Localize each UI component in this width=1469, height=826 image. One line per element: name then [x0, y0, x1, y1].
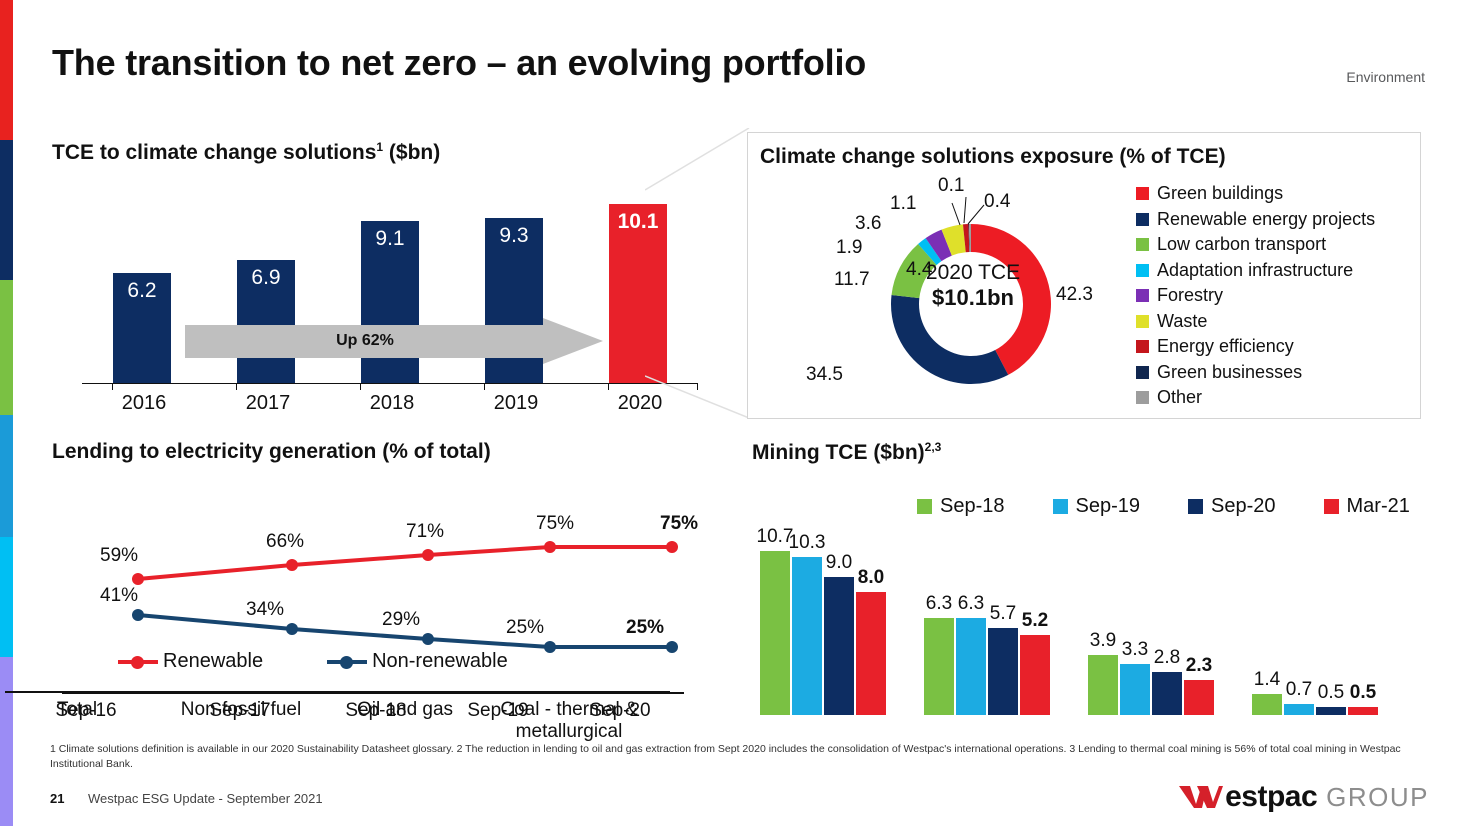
- mining-group-2: 3.93.32.82.3: [1088, 525, 1228, 715]
- tce-bar-value: 6.9: [237, 266, 295, 290]
- legend-swatch: [1136, 315, 1149, 328]
- lending-legend: RenewableNon-renewable: [118, 650, 508, 673]
- legend-label: Energy efficiency: [1157, 336, 1294, 357]
- donut-legend-item[interactable]: Energy efficiency: [1136, 334, 1375, 360]
- slide: The transition to net zero – an evolving…: [0, 0, 1469, 826]
- mining-bar-Mar-21: 5.2: [1020, 635, 1050, 715]
- stripe-band-5: [0, 657, 13, 826]
- arrow-label: Up 62%: [185, 332, 545, 350]
- legend-label: Sep-19: [1076, 495, 1141, 518]
- mining-bar-Sep-18: 3.9: [1088, 655, 1118, 715]
- line-point-label: 25%: [506, 617, 544, 639]
- donut-value-adaptation: 1.9: [836, 237, 862, 259]
- westpac-w-icon: [1179, 782, 1223, 812]
- line-point-label: 34%: [246, 599, 284, 621]
- donut-wrapper: 2020 TCE $10.1bn 42.3 34.5 11.7 1.9 3.6 …: [808, 179, 1138, 409]
- donut-legend-item[interactable]: Other: [1136, 385, 1375, 411]
- tce-cat-2017: 2017: [223, 392, 313, 415]
- westpac-group-logo: estpac GROUP: [1179, 780, 1429, 814]
- line-point-label: 75%: [536, 513, 574, 535]
- line-point-label: 29%: [382, 609, 420, 631]
- mining-bar-Sep-19: 0.7: [1284, 704, 1314, 715]
- mining-bar-Sep-19: 6.3: [956, 618, 986, 715]
- line-series-Renewable: [138, 547, 672, 579]
- mining-bar-Mar-21: 8.0: [856, 592, 886, 715]
- arrow-head: [543, 318, 603, 364]
- legend-label: Green buildings: [1157, 183, 1283, 204]
- legend-label: Adaptation infrastructure: [1157, 260, 1353, 281]
- chart-title-mining: Mining TCE ($bn)2,3: [752, 440, 941, 465]
- legend-label: Mar-21: [1347, 495, 1410, 518]
- mining-bar-value: 8.0: [844, 567, 898, 589]
- mining-cat-3: Coal - thermal & metallurgical: [474, 699, 664, 743]
- chart-title-exposure: Climate change solutions exposure (% of …: [760, 145, 1226, 169]
- chart-title-tce: TCE to climate change solutions1 ($bn): [52, 140, 440, 165]
- mining-cat-2: Oil and gas: [310, 699, 500, 721]
- donut-legend-item[interactable]: Forestry: [1136, 283, 1375, 309]
- legend-line: [118, 660, 158, 664]
- chart-mining-tce: Mining TCE ($bn)2,3 Sep-18Sep-19Sep-20Ma…: [747, 440, 1437, 740]
- mining-bar-value: 0.5: [1336, 682, 1390, 704]
- footnotes: 1 Climate solutions definition is availa…: [50, 742, 1425, 772]
- mining-bars: 10.710.39.08.06.36.35.75.23.93.32.82.31.…: [752, 525, 1422, 715]
- line-point[interactable]: [544, 641, 556, 653]
- mining-bar-Sep-20: 0.5: [1316, 707, 1346, 715]
- legend-label: Low carbon transport: [1157, 234, 1326, 255]
- donut-legend-item[interactable]: Low carbon transport: [1136, 232, 1375, 258]
- line-point-label: 59%: [100, 545, 138, 567]
- donut-center-line1: 2020 TCE: [926, 261, 1020, 284]
- legend-line: [327, 660, 367, 664]
- tce-bar-value: 9.3: [485, 224, 543, 248]
- mining-bar-value: 10.3: [780, 532, 834, 554]
- line-point-label: 71%: [406, 521, 444, 543]
- legend-label: Green businesses: [1157, 362, 1302, 383]
- tce-bar-2020: 10.1: [609, 204, 667, 383]
- line-point-label: 75%: [660, 513, 698, 535]
- mining-axis-line: [5, 691, 670, 693]
- tce-bar-value: 6.2: [113, 279, 171, 303]
- mining-legend-item[interactable]: Sep-18: [917, 495, 1005, 518]
- legend-swatch: [1136, 264, 1149, 277]
- donut-legend-item[interactable]: Waste: [1136, 309, 1375, 335]
- mining-bar-value: 2.3: [1172, 655, 1226, 677]
- mining-legend-item[interactable]: Sep-19: [1053, 495, 1141, 518]
- legend-swatch: [1136, 289, 1149, 302]
- mining-bar-Sep-19: 10.3: [792, 557, 822, 715]
- tce-cat-2019: 2019: [471, 392, 561, 415]
- legend-label: Forestry: [1157, 285, 1223, 306]
- legend-swatch: [1188, 499, 1203, 514]
- tce-bar-value: 10.1: [609, 210, 667, 234]
- mining-group-0: 10.710.39.08.0: [760, 525, 900, 715]
- legend-swatch: [1136, 238, 1149, 251]
- line-point[interactable]: [422, 633, 434, 645]
- legend-label: Waste: [1157, 311, 1207, 332]
- donut-legend-item[interactable]: Green businesses: [1136, 360, 1375, 386]
- lending-legend-item[interactable]: Non-renewable: [327, 650, 508, 673]
- donut-value-energy-efficiency: 1.1: [890, 193, 916, 215]
- mining-legend-item[interactable]: Mar-21: [1324, 495, 1410, 518]
- line-point[interactable]: [666, 541, 678, 553]
- line-point[interactable]: [544, 541, 556, 553]
- chart-title-tce-text: TCE to climate change solutions: [52, 141, 376, 164]
- legend-swatch: [917, 499, 932, 514]
- line-point[interactable]: [286, 559, 298, 571]
- logo-secondary-text: GROUP: [1326, 782, 1429, 813]
- donut-value-renewable-energy: 34.5: [806, 364, 843, 386]
- mining-group-1: 6.36.35.75.2: [924, 525, 1064, 715]
- tce-bar-value: 9.1: [361, 227, 419, 251]
- mining-bar-Sep-20: 2.8: [1152, 672, 1182, 715]
- line-point[interactable]: [286, 623, 298, 635]
- donut-legend-item[interactable]: Renewable energy projects: [1136, 207, 1375, 233]
- line-point[interactable]: [132, 573, 144, 585]
- mining-bar-Mar-21: 0.5: [1348, 707, 1378, 715]
- line-point-label: 41%: [100, 585, 138, 607]
- section-tag: Environment: [1346, 69, 1425, 85]
- line-point-label: 25%: [626, 617, 664, 639]
- chart-title-mining-text: Mining TCE ($bn): [752, 441, 925, 464]
- legend-swatch: [1136, 391, 1149, 404]
- mining-legend-item[interactable]: Sep-20: [1188, 495, 1276, 518]
- donut-value-forestry: 3.6: [855, 213, 881, 235]
- chart-title-tce-suffix: ($bn): [383, 141, 440, 164]
- mining-cat-1: Non-fossil fuel: [146, 699, 336, 721]
- chart-title-lending: Lending to electricity generation (% of …: [52, 440, 491, 464]
- legend-swatch: [1136, 366, 1149, 379]
- mining-legend: Sep-18Sep-19Sep-20Mar-21: [917, 495, 1410, 518]
- legend-label: Renewable: [163, 650, 263, 673]
- tce-category-labels: 20162017201820192020: [82, 392, 697, 422]
- donut-value-low-carbon: 11.7: [834, 269, 870, 291]
- legend-swatch: [1324, 499, 1339, 514]
- donut-value-green-businesses: 0.1: [938, 175, 964, 197]
- tce-bar-2016: 6.2: [113, 273, 171, 383]
- mining-bar-Mar-21: 2.3: [1184, 680, 1214, 715]
- mining-bar-Sep-20: 9.0: [824, 577, 854, 715]
- line-point[interactable]: [666, 641, 678, 653]
- line-point-label: 66%: [266, 531, 304, 553]
- mining-bar-Sep-18: 6.3: [924, 618, 954, 715]
- donut-legend: Green buildingsRenewable energy projects…: [1136, 181, 1375, 411]
- footer-text: Westpac ESG Update - September 2021: [88, 791, 323, 806]
- stripe-band-4: [0, 537, 13, 657]
- legend-swatch: [1053, 499, 1068, 514]
- up-62-arrow: Up 62%: [185, 318, 610, 365]
- legend-label: Renewable energy projects: [1157, 209, 1375, 230]
- logo-primary-text: estpac: [1225, 780, 1317, 814]
- tce-cat-2020: 2020: [595, 392, 685, 415]
- tce-axis-ticks: [82, 383, 697, 390]
- legend-swatch: [1136, 340, 1149, 353]
- donut-legend-item[interactable]: Adaptation infrastructure: [1136, 258, 1375, 284]
- stripe-band-2: [0, 280, 13, 415]
- page-number: 21: [50, 791, 64, 806]
- stripe-band-1: [0, 140, 13, 280]
- mining-bar-Sep-19: 3.3: [1120, 664, 1150, 715]
- chart-climate-solutions-exposure: Climate change solutions exposure (% of …: [747, 132, 1421, 419]
- tce-cat-2018: 2018: [347, 392, 437, 415]
- tce-cat-2016: 2016: [99, 392, 189, 415]
- line-point[interactable]: [132, 609, 144, 621]
- mining-bar-Sep-18: 10.7: [760, 551, 790, 715]
- donut-legend-item[interactable]: Green buildings: [1136, 181, 1375, 207]
- donut-value-other: 0.4: [984, 191, 1010, 213]
- legend-swatch: [1136, 213, 1149, 226]
- lending-legend-item[interactable]: Renewable: [118, 650, 263, 673]
- chart-title-mining-sup: 2,3: [925, 440, 942, 454]
- legend-label: Sep-18: [940, 495, 1005, 518]
- mining-group-3: 1.40.70.50.5: [1252, 525, 1392, 715]
- mining-bar-Sep-20: 5.7: [988, 628, 1018, 715]
- donut-value-waste: 4.4: [906, 259, 932, 281]
- chart-tce-climate-solutions: TCE to climate change solutions1 ($bn) 6…: [52, 140, 712, 420]
- legend-label: Non-renewable: [372, 650, 508, 673]
- legend-swatch: [1136, 187, 1149, 200]
- mining-bar-value: 5.2: [1008, 610, 1062, 632]
- line-point[interactable]: [422, 549, 434, 561]
- page-title: The transition to net zero – an evolving…: [52, 42, 866, 84]
- stripe-band-0: [0, 0, 13, 140]
- legend-label: Other: [1157, 387, 1202, 408]
- donut-value-green-buildings: 42.3: [1056, 284, 1093, 306]
- stripe-band-3: [0, 415, 13, 537]
- legend-label: Sep-20: [1211, 495, 1276, 518]
